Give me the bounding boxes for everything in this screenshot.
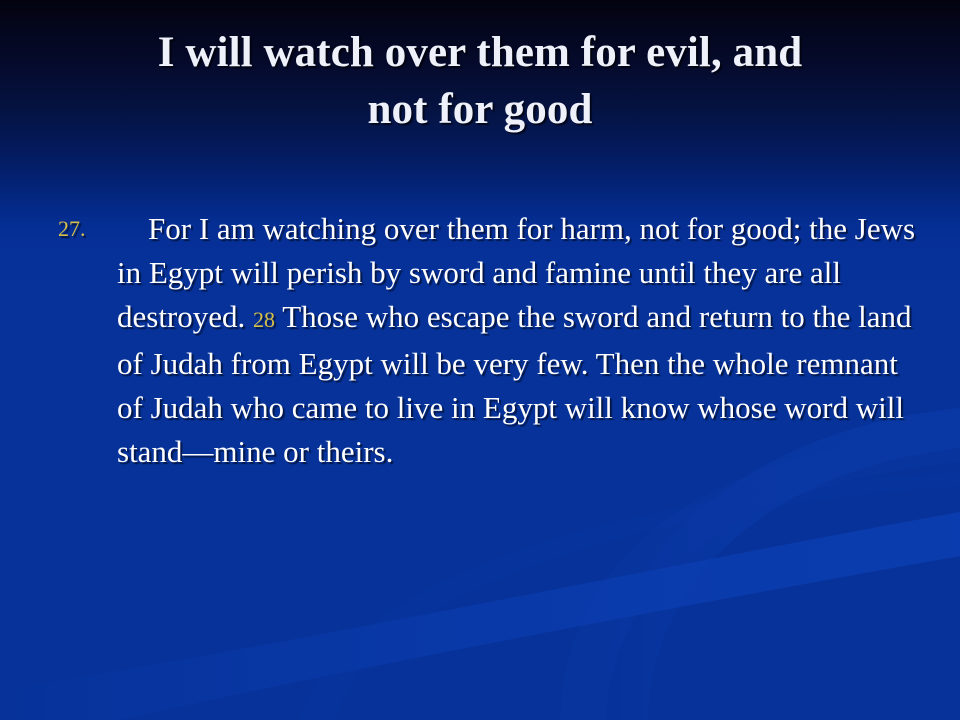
verse-number-27: 27. <box>58 207 86 251</box>
slide-canvas: I will watch over them for evil, and not… <box>0 0 960 720</box>
verse-number-28: 28 <box>253 307 275 332</box>
slide-title: I will watch over them for evil, and not… <box>48 24 912 138</box>
verse-paragraph: 27. For I am watching over them for harm… <box>58 207 918 474</box>
slide-title-text: I will watch over them for evil, and not… <box>48 24 912 138</box>
swoosh-band-diagonal <box>0 512 960 720</box>
slide-body: 27. For I am watching over them for harm… <box>58 176 918 505</box>
swoosh-arc-faint <box>300 472 960 720</box>
